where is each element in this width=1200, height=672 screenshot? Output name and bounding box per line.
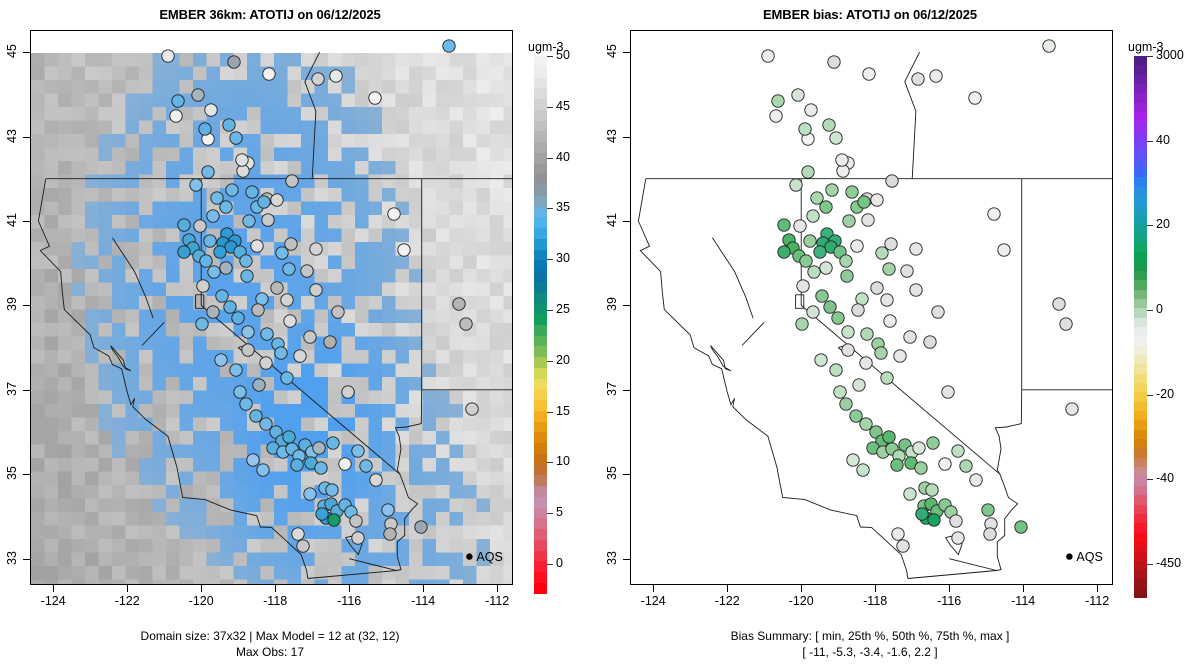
raster-cell (328, 148, 342, 162)
raster-cell (342, 121, 356, 135)
station-marker[interactable] (283, 431, 295, 443)
station-marker[interactable] (200, 255, 212, 267)
station-marker[interactable] (257, 464, 269, 476)
station-marker[interactable] (237, 165, 249, 177)
station-marker[interactable] (208, 266, 220, 278)
station-marker[interactable] (202, 166, 214, 178)
raster-cell (153, 337, 167, 351)
raster-cell (99, 188, 113, 202)
raster-cell (382, 431, 396, 445)
station-marker[interactable] (453, 298, 465, 310)
station-marker[interactable] (808, 266, 820, 278)
raster-cell (436, 215, 450, 229)
station-marker[interactable] (291, 459, 303, 471)
station-marker[interactable] (260, 357, 272, 369)
raster-cell (220, 418, 234, 432)
station-marker[interactable] (297, 540, 309, 552)
station-marker[interactable] (792, 89, 804, 101)
raster-cell (301, 404, 315, 418)
raster-cell (85, 67, 99, 81)
station-marker[interactable] (261, 328, 273, 340)
station-marker[interactable] (332, 306, 344, 318)
station-marker[interactable] (850, 410, 862, 422)
station-marker[interactable] (834, 386, 846, 398)
raster-cell (490, 364, 504, 378)
station-marker[interactable] (1043, 40, 1055, 52)
station-marker[interactable] (883, 263, 895, 275)
station-marker[interactable] (823, 119, 835, 131)
station-marker[interactable] (310, 284, 322, 296)
station-marker[interactable] (162, 50, 174, 62)
colorbar-segment (1134, 140, 1147, 149)
station-marker[interactable] (241, 270, 253, 282)
raster-cell (58, 431, 72, 445)
raster-cell (463, 188, 477, 202)
station-marker[interactable] (815, 354, 827, 366)
station-marker[interactable] (840, 255, 852, 267)
station-marker[interactable] (230, 364, 242, 376)
station-marker[interactable] (932, 306, 944, 318)
station-marker[interactable] (847, 454, 859, 466)
station-marker[interactable] (904, 331, 916, 343)
station-marker[interactable] (988, 208, 1000, 220)
station-marker[interactable] (275, 347, 287, 359)
station-marker[interactable] (1015, 521, 1027, 533)
station-marker[interactable] (820, 262, 832, 274)
raster-cell (139, 53, 153, 67)
station-marker[interactable] (770, 110, 782, 122)
raster-cell (58, 458, 72, 472)
station-marker[interactable] (415, 521, 427, 533)
station-marker[interactable] (830, 132, 842, 144)
station-marker[interactable] (352, 532, 364, 544)
station-marker[interactable] (190, 179, 202, 191)
station-marker[interactable] (178, 219, 190, 231)
station-marker[interactable] (242, 344, 254, 356)
raster-cell (99, 202, 113, 216)
station-marker[interactable] (927, 437, 939, 449)
station-marker[interactable] (327, 437, 339, 449)
raster-cell (301, 94, 315, 108)
station-marker[interactable] (799, 123, 811, 135)
colorbar-segment (1134, 196, 1147, 205)
station-marker[interactable] (260, 418, 272, 430)
raster-cell (99, 553, 113, 567)
station-marker[interactable] (388, 208, 400, 220)
station-marker[interactable] (851, 240, 863, 252)
station-marker[interactable] (952, 445, 964, 457)
raster-cell (112, 431, 126, 445)
station-marker[interactable] (281, 372, 293, 384)
station-marker[interactable] (350, 515, 362, 527)
raster-cell (382, 418, 396, 432)
raster-cell (450, 391, 464, 405)
station-marker[interactable] (384, 528, 396, 540)
raster-cell (72, 512, 86, 526)
station-marker[interactable] (984, 528, 996, 540)
raster-cell (261, 229, 275, 243)
raster-cell (45, 539, 59, 553)
station-marker[interactable] (969, 92, 981, 104)
station-marker[interactable] (915, 462, 927, 474)
raster-cell (31, 377, 45, 391)
station-marker[interactable] (853, 379, 865, 391)
station-marker[interactable] (250, 410, 262, 422)
station-marker[interactable] (942, 386, 954, 398)
x-tick (275, 585, 276, 592)
colorbar-tick-label: 0 (556, 556, 563, 570)
raster-cell (463, 80, 477, 94)
station-marker[interactable] (199, 123, 211, 135)
raster-cell (166, 121, 180, 135)
raster-cell (301, 134, 315, 148)
station-marker[interactable] (242, 326, 254, 338)
raster-cell (207, 431, 221, 445)
station-marker[interactable] (246, 186, 258, 198)
raster-cell (463, 566, 477, 580)
station-marker[interactable] (790, 179, 802, 191)
station-marker[interactable] (310, 243, 322, 255)
station-marker[interactable] (1066, 403, 1078, 415)
station-marker[interactable] (871, 194, 883, 206)
colorbar-segment (1134, 383, 1147, 392)
station-marker[interactable] (370, 474, 382, 486)
station-marker[interactable] (841, 270, 853, 282)
station-marker[interactable] (292, 528, 304, 540)
station-marker[interactable] (339, 458, 351, 470)
station-marker[interactable] (466, 403, 478, 415)
station-marker[interactable] (284, 315, 296, 327)
raster-cell (423, 323, 437, 337)
station-marker[interactable] (939, 458, 951, 470)
station-marker[interactable] (824, 301, 836, 313)
station-marker[interactable] (234, 386, 246, 398)
raster-cell (112, 580, 126, 585)
station-marker[interactable] (342, 386, 354, 398)
colorbar-segment (534, 518, 547, 529)
station-marker[interactable] (910, 243, 922, 255)
raster-cell (450, 364, 464, 378)
station-marker[interactable] (863, 68, 875, 80)
station-marker[interactable] (840, 398, 852, 410)
raster-cell (328, 269, 342, 283)
station-marker[interactable] (251, 240, 263, 252)
station-markers-bias[interactable] (762, 40, 1078, 552)
station-marker[interactable] (910, 284, 922, 296)
station-marker[interactable] (804, 235, 816, 247)
colorbar-tick (1147, 225, 1153, 226)
station-marker[interactable] (960, 460, 972, 472)
station-marker[interactable] (1060, 318, 1072, 330)
raster-cell (396, 107, 410, 121)
station-marker[interactable] (352, 445, 364, 457)
station-marker[interactable] (926, 484, 938, 496)
station-marker[interactable] (805, 104, 817, 116)
raster-cell (45, 377, 59, 391)
raster-cell (45, 337, 59, 351)
station-marker[interactable] (832, 312, 844, 324)
raster-cell (31, 553, 45, 567)
raster-cell (396, 485, 410, 499)
raster-cell (126, 499, 140, 513)
station-marker[interactable] (884, 315, 896, 327)
station-marker[interactable] (796, 318, 808, 330)
station-marker[interactable] (224, 301, 236, 313)
station-marker[interactable] (881, 294, 893, 306)
raster-cell (139, 526, 153, 540)
station-marker[interactable] (843, 215, 855, 227)
station-marker[interactable] (862, 214, 874, 226)
colorbar-segment (1134, 224, 1147, 233)
station-marker[interactable] (294, 350, 306, 362)
station-marker[interactable] (285, 238, 297, 250)
station-marker[interactable] (842, 326, 854, 338)
station-marker[interactable] (315, 462, 327, 474)
raster-cell (450, 350, 464, 364)
station-marker[interactable] (885, 238, 897, 250)
station-marker[interactable] (836, 154, 848, 166)
raster-cell (328, 539, 342, 553)
station-marker[interactable] (828, 56, 840, 68)
station-marker[interactable] (820, 201, 832, 213)
raster-cell (112, 485, 126, 499)
raster-cell (166, 80, 180, 94)
station-marker[interactable] (930, 70, 942, 82)
station-marker[interactable] (998, 244, 1010, 256)
station-marker[interactable] (204, 235, 216, 247)
raster-cell (126, 418, 140, 432)
station-marker[interactable] (860, 418, 872, 430)
station-marker[interactable] (271, 194, 283, 206)
station-marker[interactable] (814, 246, 826, 258)
station-marker[interactable] (982, 504, 994, 516)
station-marker[interactable] (950, 515, 962, 527)
station-marker[interactable] (304, 488, 316, 500)
raster-cell (355, 323, 369, 337)
station-marker[interactable] (192, 89, 204, 101)
station-marker[interactable] (460, 318, 472, 330)
station-marker[interactable] (891, 459, 903, 471)
station-marker[interactable] (360, 460, 372, 472)
raster-cell (504, 269, 513, 283)
station-marker[interactable] (369, 92, 381, 104)
station-marker[interactable] (807, 306, 819, 318)
raster-cell (112, 269, 126, 283)
station-marker[interactable] (316, 508, 328, 520)
station-marker[interactable] (312, 73, 324, 85)
station-marker[interactable] (857, 464, 869, 476)
raster-cell (477, 80, 491, 94)
station-marker[interactable] (207, 210, 219, 222)
station-marker[interactable] (243, 215, 255, 227)
station-marker[interactable] (816, 290, 828, 302)
raster-cell (436, 539, 450, 553)
raster-cell (261, 107, 275, 121)
station-marker[interactable] (194, 220, 206, 232)
station-marker[interactable] (205, 104, 217, 116)
raster-cell (193, 526, 207, 540)
station-marker[interactable] (252, 304, 264, 316)
raster-cell (355, 418, 369, 432)
raster-cell (31, 499, 45, 513)
station-marker[interactable] (826, 184, 838, 196)
station-marker[interactable] (230, 132, 242, 144)
raster-cell (315, 256, 329, 270)
station-marker[interactable] (797, 280, 809, 292)
raster-cell (166, 539, 180, 553)
station-marker[interactable] (904, 488, 916, 500)
raster-cell (274, 580, 288, 585)
station-marker[interactable] (196, 318, 208, 330)
station-marker[interactable] (398, 244, 410, 256)
station-marker[interactable] (856, 293, 868, 305)
station-marker[interactable] (247, 454, 259, 466)
station-marker[interactable] (226, 184, 238, 196)
raster-cell (463, 445, 477, 459)
station-marker[interactable] (762, 50, 774, 62)
colorbar-segment (1134, 308, 1147, 317)
raster-cell (504, 202, 513, 216)
station-marker[interactable] (802, 166, 814, 178)
station-marker[interactable] (912, 73, 924, 85)
station-marker[interactable] (253, 379, 265, 391)
station-marker[interactable] (861, 328, 873, 340)
raster-cell (436, 580, 450, 585)
station-marker[interactable] (837, 165, 849, 177)
station-marker[interactable] (928, 514, 940, 526)
raster-cell (301, 377, 315, 391)
station-marker[interactable] (207, 306, 219, 318)
station-marker[interactable] (952, 532, 964, 544)
raster-cell (58, 310, 72, 324)
station-marker[interactable] (328, 514, 340, 526)
station-marker[interactable] (970, 474, 982, 486)
raster-cell (423, 269, 437, 283)
raster-cell (342, 431, 356, 445)
station-marker[interactable] (263, 68, 275, 80)
station-marker[interactable] (894, 350, 906, 362)
raster-cell (423, 364, 437, 378)
station-marker[interactable] (258, 196, 270, 208)
raster-cell (85, 242, 99, 256)
station-marker[interactable] (800, 255, 812, 267)
station-marker[interactable] (858, 196, 870, 208)
station-marker[interactable] (901, 265, 913, 277)
station-marker[interactable] (304, 331, 316, 343)
station-marker[interactable] (236, 154, 248, 166)
raster-cell (139, 134, 153, 148)
raster-cell (477, 175, 491, 189)
station-marker[interactable] (313, 442, 325, 454)
station-marker[interactable] (871, 282, 883, 294)
station-marker[interactable] (215, 354, 227, 366)
station-marker[interactable] (807, 210, 819, 222)
station-marker[interactable] (214, 246, 226, 258)
station-marker[interactable] (897, 540, 909, 552)
station-marker[interactable] (240, 255, 252, 267)
station-marker[interactable] (220, 262, 232, 274)
station-marker[interactable] (443, 40, 455, 52)
raster-cell (112, 161, 126, 175)
colorbar-segment (534, 271, 547, 282)
station-marker[interactable] (197, 280, 209, 292)
station-marker[interactable] (220, 201, 232, 213)
station-marker[interactable] (281, 294, 293, 306)
raster-cell (477, 350, 491, 364)
colorbar-segment (534, 314, 547, 325)
station-marker[interactable] (892, 528, 904, 540)
station-marker[interactable] (271, 282, 283, 294)
station-marker[interactable] (324, 336, 336, 348)
station-marker[interactable] (1053, 298, 1065, 310)
station-marker[interactable] (172, 95, 184, 107)
raster-cell (45, 80, 59, 94)
station-marker[interactable] (846, 186, 858, 198)
station-marker[interactable] (216, 290, 228, 302)
station-marker[interactable] (916, 508, 928, 520)
station-marker[interactable] (326, 484, 338, 496)
raster-cell (504, 499, 513, 513)
x-tick (201, 585, 202, 592)
station-marker[interactable] (794, 220, 806, 232)
station-marker[interactable] (170, 110, 182, 122)
station-marker[interactable] (330, 70, 342, 82)
station-marker[interactable] (286, 175, 298, 187)
raster-cell (450, 472, 464, 486)
raster-cell (139, 161, 153, 175)
station-marker[interactable] (778, 246, 790, 258)
station-marker[interactable] (886, 175, 898, 187)
station-marker[interactable] (256, 293, 268, 305)
raster-cell (31, 364, 45, 378)
station-marker[interactable] (240, 398, 252, 410)
station-marker[interactable] (830, 364, 842, 376)
map-plot-bias[interactable]: AQS (630, 30, 1113, 585)
raster-cell (382, 175, 396, 189)
station-marker[interactable] (913, 442, 925, 454)
raster-cell (274, 485, 288, 499)
station-marker[interactable] (883, 431, 895, 443)
raster-cell (504, 566, 513, 580)
station-marker[interactable] (875, 347, 887, 359)
station-marker[interactable] (382, 504, 394, 516)
station-marker[interactable] (860, 357, 872, 369)
station-marker[interactable] (223, 119, 235, 131)
station-marker[interactable] (301, 265, 313, 277)
raster-cell (72, 485, 86, 499)
raster-cell (436, 283, 450, 297)
raster-cell (369, 188, 383, 202)
station-marker[interactable] (178, 246, 190, 258)
station-marker[interactable] (842, 344, 854, 356)
station-marker[interactable] (778, 219, 790, 231)
raster-cell (288, 188, 302, 202)
y-tick-label: 39 (605, 295, 619, 313)
station-marker[interactable] (262, 214, 274, 226)
station-marker[interactable] (232, 312, 244, 324)
station-marker[interactable] (924, 336, 936, 348)
map-plot-model[interactable]: AQS (30, 30, 513, 585)
raster-cell (328, 553, 342, 567)
station-marker[interactable] (772, 95, 784, 107)
raster-cell (261, 80, 275, 94)
station-marker[interactable] (852, 304, 864, 316)
x-tick-label: -118 (863, 594, 887, 608)
y-tick-label: 41 (5, 211, 19, 229)
station-marker[interactable] (228, 56, 240, 68)
station-marker[interactable] (881, 372, 893, 384)
station-marker[interactable] (283, 263, 295, 275)
